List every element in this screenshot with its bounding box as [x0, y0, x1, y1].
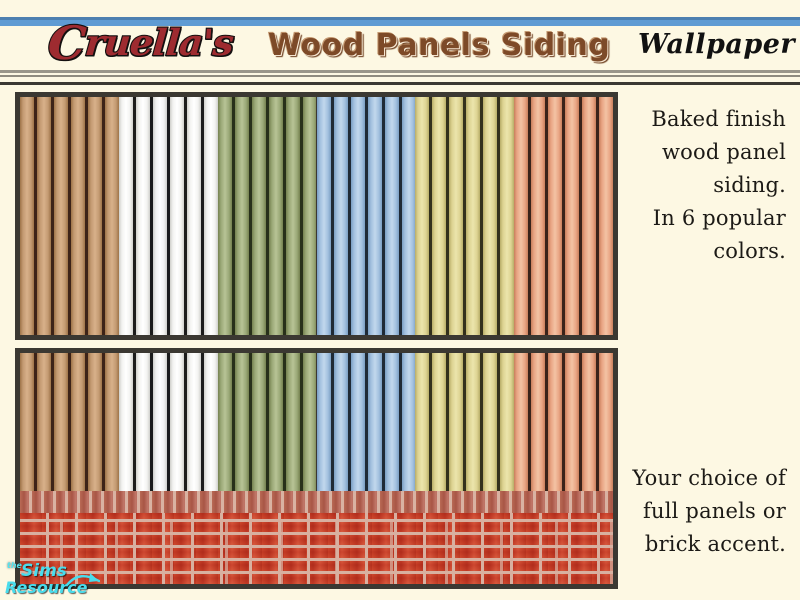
- siding-strip-salmon: [514, 353, 613, 491]
- siding-strip-sky-blue: [317, 97, 416, 335]
- description-bottom-line-3: brick accent.: [608, 528, 786, 561]
- description-top-line-3: siding.: [608, 169, 786, 202]
- description-top-line-2: wood panel: [608, 136, 786, 169]
- category-label: Wallpaper: [638, 29, 795, 60]
- description-bottom-line-2: full panels or: [608, 495, 786, 528]
- siding-strip-tan-wood: [20, 353, 119, 491]
- siding-swatch-row-full: [20, 97, 613, 335]
- description-top-line-5: colors.: [608, 235, 786, 268]
- brand-logo-rest: ruella's: [84, 22, 235, 64]
- description-bottom-line-1: Your choice of: [608, 462, 786, 495]
- description-top: Baked finish wood panel siding. In 6 pop…: [608, 103, 786, 268]
- siding-strip-salmon: [514, 97, 613, 335]
- header-divider-group: [0, 68, 800, 88]
- rule-dark-bottom: [0, 82, 800, 85]
- brick-band: [20, 491, 613, 584]
- brand-logo: Cruella's: [46, 22, 234, 64]
- siding-strip-sage-green: [218, 97, 317, 335]
- description-top-line-1: Baked finish: [608, 103, 786, 136]
- description-bottom: Your choice of full panels or brick acce…: [608, 462, 786, 561]
- brand-logo-initial: C: [46, 16, 87, 70]
- panel-brick-accent[interactable]: [15, 348, 618, 589]
- siding-swatch-row-brick: [20, 353, 613, 491]
- header-bar: Cruella's Wood Panels Siding Wallpaper: [0, 26, 800, 68]
- rule-olive-top: [0, 70, 800, 73]
- siding-strip-sage-green: [218, 353, 317, 491]
- siding-strip-cream-yellow: [415, 353, 514, 491]
- description-top-line-4: In 6 popular: [608, 202, 786, 235]
- siding-strip-white: [119, 97, 218, 335]
- page-title: Wood Panels Siding: [268, 28, 610, 63]
- siding-strip-tan-wood: [20, 97, 119, 335]
- siding-strip-white: [119, 353, 218, 491]
- rule-olive-thin: [0, 75, 800, 77]
- siding-strip-sky-blue: [317, 353, 416, 491]
- siding-strip-cream-yellow: [415, 97, 514, 335]
- panel-full-siding[interactable]: [15, 92, 618, 340]
- brick-running-bond: [20, 513, 613, 584]
